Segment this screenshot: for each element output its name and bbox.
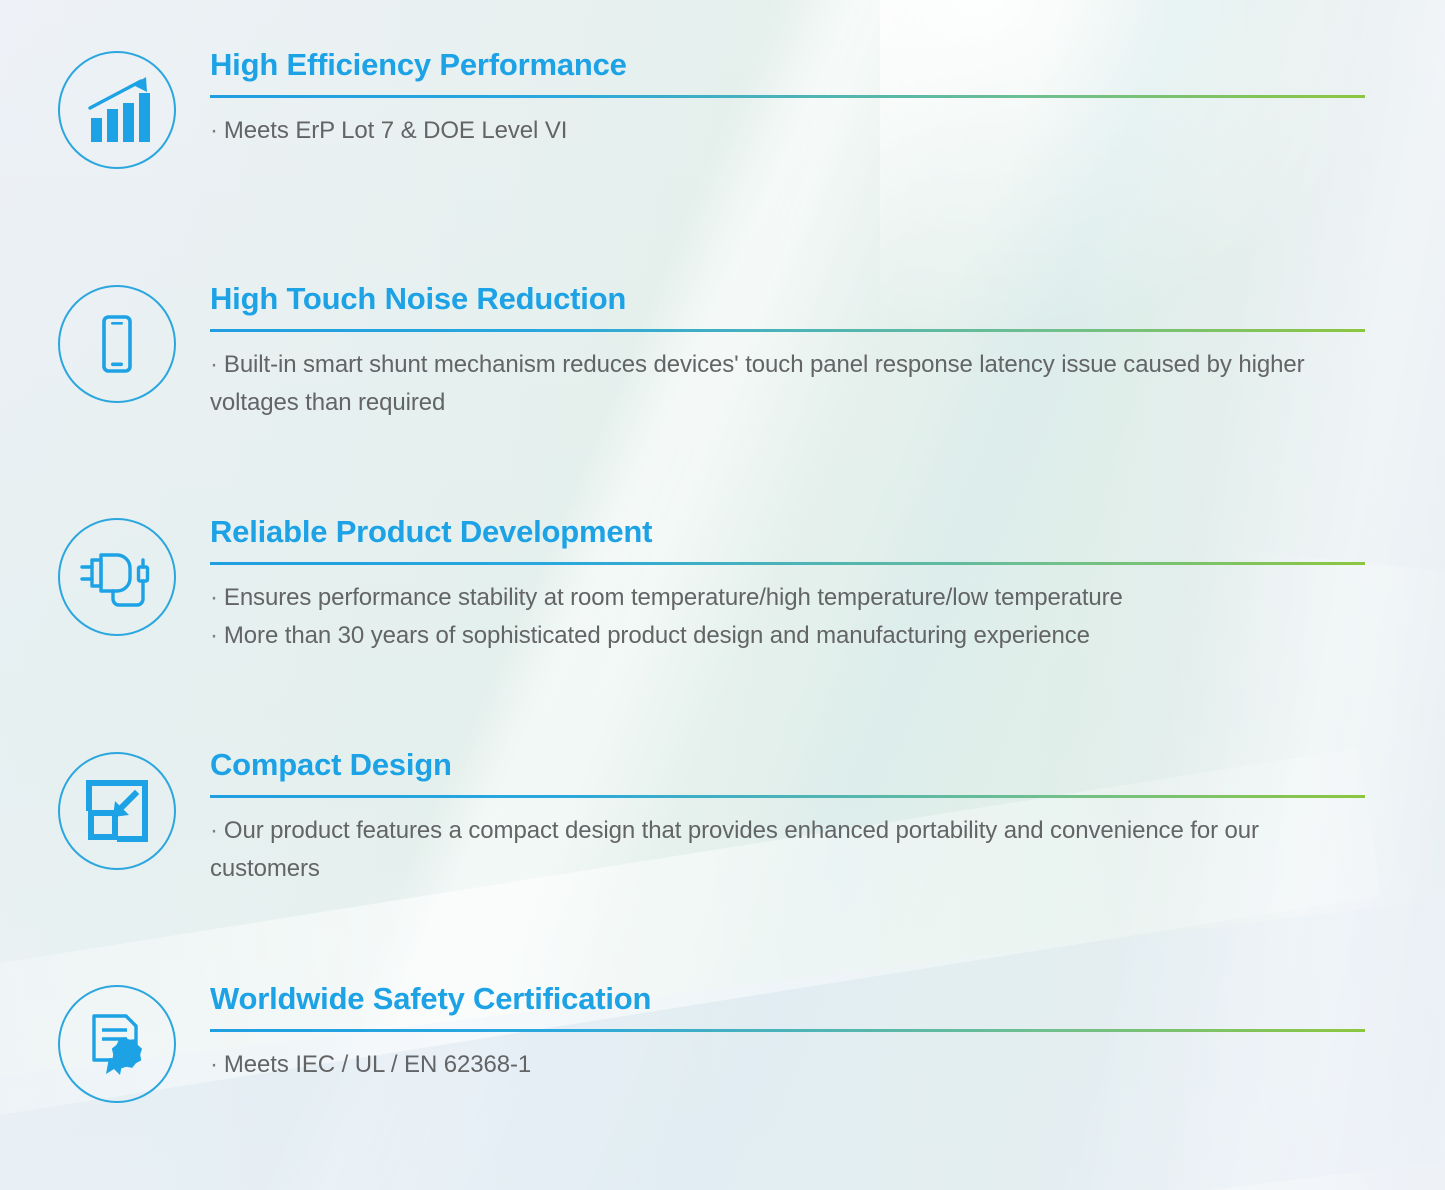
- feature-text-block: Worldwide Safety Certification ·Meets IE…: [210, 980, 1370, 1084]
- feature-text-block: High Efficiency Performance ·Meets ErP L…: [210, 46, 1370, 150]
- feature-highlights-page: High Efficiency Performance ·Meets ErP L…: [0, 0, 1445, 1190]
- feature-bullets: ·Meets ErP Lot 7 & DOE Level VI: [210, 112, 1370, 150]
- feature-title: Reliable Product Development: [210, 513, 1370, 551]
- bullet-marker: ·: [210, 817, 218, 844]
- bullet-item: ·Ensures performance stability at room t…: [210, 579, 1370, 617]
- feature-title: High Efficiency Performance: [210, 46, 1370, 84]
- smartphone-icon: [58, 285, 176, 403]
- bullet-marker: ·: [210, 622, 218, 649]
- feature-bullets: ·Meets IEC / UL / EN 62368-1: [210, 1046, 1370, 1084]
- bar-chart-growth-icon: [58, 51, 176, 169]
- bullet-item: ·Meets ErP Lot 7 & DOE Level VI: [210, 112, 1370, 150]
- feature-title: Worldwide Safety Certification: [210, 980, 1370, 1018]
- bullet-text: Built-in smart shunt mechanism reduces d…: [210, 351, 1305, 416]
- feature-divider: [210, 95, 1365, 98]
- bullet-marker: ·: [210, 1051, 218, 1078]
- feature-divider: [210, 329, 1365, 332]
- certificate-seal-icon: [58, 985, 176, 1103]
- bullet-text: Our product features a compact design th…: [210, 817, 1259, 882]
- feature-text-block: Compact Design ·Our product features a c…: [210, 746, 1370, 888]
- power-adapter-icon: [58, 518, 176, 636]
- bullet-item: ·More than 30 years of sophisticated pro…: [210, 617, 1370, 655]
- bullet-item: ·Built-in smart shunt mechanism reduces …: [210, 346, 1370, 422]
- bullet-marker: ·: [210, 117, 218, 144]
- bullet-marker: ·: [210, 351, 218, 378]
- feature-text-block: Reliable Product Development ·Ensures pe…: [210, 513, 1370, 655]
- feature-divider: [210, 562, 1365, 565]
- feature-divider: [210, 1029, 1365, 1032]
- feature-title: High Touch Noise Reduction: [210, 280, 1370, 318]
- feature-bullets: ·Ensures performance stability at room t…: [210, 579, 1370, 655]
- feature-bullets: ·Built-in smart shunt mechanism reduces …: [210, 346, 1370, 422]
- bullet-text: Ensures performance stability at room te…: [224, 584, 1123, 611]
- feature-title: Compact Design: [210, 746, 1370, 784]
- bullet-item: ·Meets IEC / UL / EN 62368-1: [210, 1046, 1370, 1084]
- feature-text-block: High Touch Noise Reduction ·Built-in sma…: [210, 280, 1370, 422]
- bullet-text: Meets ErP Lot 7 & DOE Level VI: [224, 117, 567, 144]
- bullet-text: Meets IEC / UL / EN 62368-1: [224, 1051, 531, 1078]
- bullet-item: ·Our product features a compact design t…: [210, 812, 1370, 888]
- bullet-marker: ·: [210, 584, 218, 611]
- feature-divider: [210, 795, 1365, 798]
- bullet-text: More than 30 years of sophisticated prod…: [224, 622, 1090, 649]
- compact-resize-icon: [58, 752, 176, 870]
- feature-bullets: ·Our product features a compact design t…: [210, 812, 1370, 888]
